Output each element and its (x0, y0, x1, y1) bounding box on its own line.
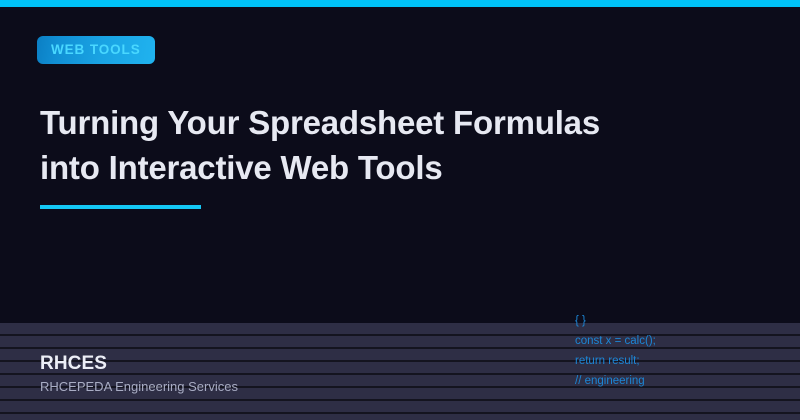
footer-brand-name: RHCES (40, 352, 460, 376)
headline-accent-rule (40, 205, 201, 209)
code-line: // engineering (575, 371, 790, 391)
slide-headline: Turning Your Spreadsheet Formulas into I… (40, 100, 680, 190)
footer-tagline: RHCEPEDA Engineering Services (40, 378, 460, 396)
headline-line-1: Turning Your Spreadsheet Formulas (40, 100, 680, 145)
footer-identity: RHCES RHCEPEDA Engineering Services (40, 352, 460, 396)
category-badge-label: WEB TOOLS (51, 43, 141, 57)
headline-line-2: into Interactive Web Tools (40, 145, 680, 190)
code-line: const x = calc(); (575, 331, 790, 351)
code-line: return result; (575, 351, 790, 371)
category-badge[interactable]: WEB TOOLS (37, 36, 155, 64)
top-accent-bar (0, 0, 800, 7)
presentation-slide: WEB TOOLS Turning Your Spreadsheet Formu… (0, 0, 800, 420)
code-decoration: { } const x = calc(); return result; // … (575, 311, 790, 391)
code-line: { } (575, 311, 790, 331)
